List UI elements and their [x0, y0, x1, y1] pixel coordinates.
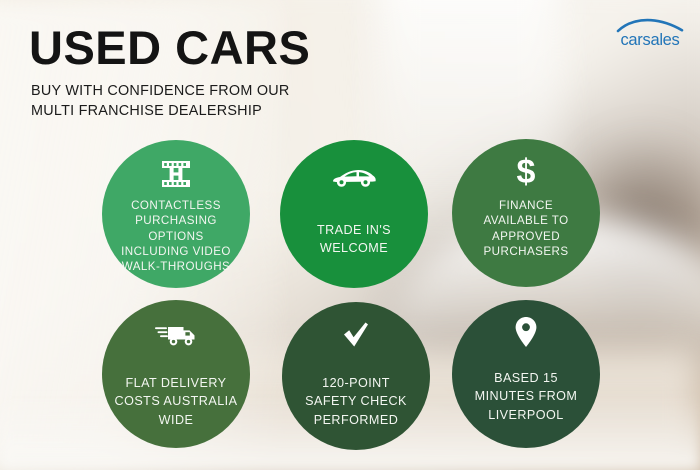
subtitle-line-1: BUY WITH CONFIDENCE FROM OUR	[31, 81, 290, 101]
location-pin-icon	[514, 315, 538, 349]
feature-line: PURCHASERS	[456, 244, 596, 259]
svg-text:$: $	[517, 154, 536, 188]
feature-label: FINANCE AVAILABLE TO APPROVED PURCHASERS	[456, 198, 596, 259]
page-title: USED CARS	[29, 24, 310, 71]
feature-line: WALK-THROUGHS	[106, 259, 246, 274]
sports-car-icon	[331, 160, 377, 194]
feature-line: WELCOME	[284, 239, 424, 257]
feature-line: 120-POINT	[286, 374, 426, 392]
feature-circle-based-liverpool[interactable]: BASED 15 MINUTES FROM LIVERPOOL	[452, 300, 600, 448]
feature-line: WIDE	[106, 411, 246, 429]
svg-text:carsales: carsales	[620, 31, 679, 48]
feature-circle-finance-available[interactable]: $ FINANCE AVAILABLE TO APPROVED PURCHASE…	[452, 139, 600, 287]
feature-label: TRADE IN'S WELCOME	[284, 221, 424, 258]
feature-circle-flat-delivery-costs[interactable]: FLAT DELIVERY COSTS AUSTRALIA WIDE	[102, 300, 250, 448]
feature-line: AVAILABLE TO	[456, 213, 596, 228]
feature-label: FLAT DELIVERY COSTS AUSTRALIA WIDE	[106, 374, 246, 429]
dollar-sign-icon: $	[513, 154, 539, 188]
film-strip-icon	[160, 157, 192, 191]
feature-label: BASED 15 MINUTES FROM LIVERPOOL	[456, 369, 596, 424]
feature-line: APPROVED	[456, 229, 596, 244]
feature-line: FINANCE	[456, 198, 596, 213]
feature-label: 120-POINT SAFETY CHECK PERFORMED	[286, 374, 426, 429]
feature-line: COSTS AUSTRALIA	[106, 392, 246, 410]
carsales-logo-graphic: carsales	[610, 18, 690, 48]
subtitle-line-2: MULTI FRANCHISE DEALERSHIP	[31, 101, 290, 121]
feature-circle-safety-check[interactable]: 120-POINT SAFETY CHECK PERFORMED	[282, 302, 430, 450]
feature-line: INCLUDING VIDEO	[106, 244, 246, 259]
delivery-van-icon	[154, 318, 198, 352]
feature-line: SAFETY CHECK	[286, 392, 426, 410]
carsales-logo[interactable]: carsales	[610, 18, 690, 48]
feature-circle-trade-ins-welcome[interactable]: TRADE IN'S WELCOME	[280, 140, 428, 288]
feature-line: FLAT DELIVERY	[106, 374, 246, 392]
feature-line: MINUTES FROM	[456, 387, 596, 405]
feature-line: PERFORMED	[286, 411, 426, 429]
promo-banner: USED CARS BUY WITH CONFIDENCE FROM OUR M…	[0, 0, 700, 470]
feature-line: OPTIONS	[106, 229, 246, 244]
feature-line: CONTACTLESS	[106, 198, 246, 213]
feature-line: LIVERPOOL	[456, 406, 596, 424]
checkmark-icon	[341, 318, 371, 352]
feature-line: TRADE IN'S	[284, 221, 424, 239]
feature-circle-contactless-purchasing[interactable]: CONTACTLESS PURCHASING OPTIONS INCLUDING…	[102, 140, 250, 288]
feature-line: BASED 15	[456, 369, 596, 387]
feature-label: CONTACTLESS PURCHASING OPTIONS INCLUDING…	[106, 198, 246, 274]
page-subtitle: BUY WITH CONFIDENCE FROM OUR MULTI FRANC…	[31, 81, 290, 122]
feature-line: PURCHASING	[106, 213, 246, 228]
